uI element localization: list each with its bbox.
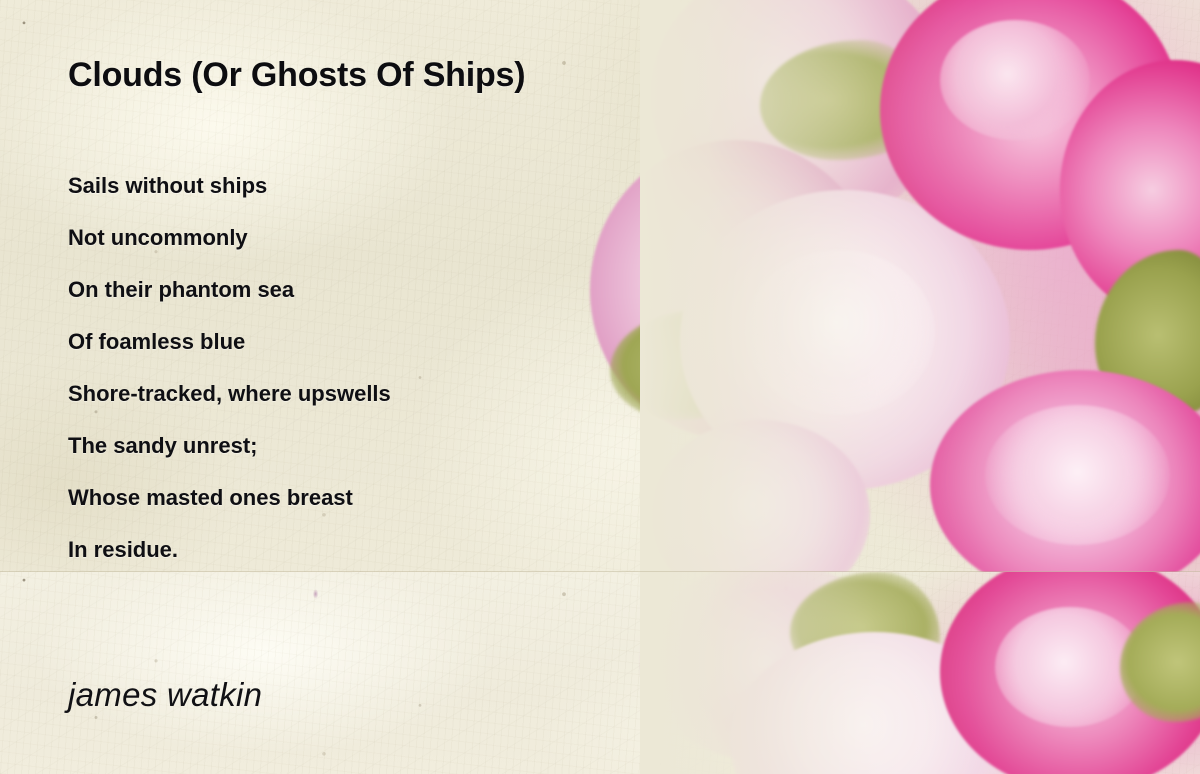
poem-line: The sandy unrest;: [68, 420, 391, 472]
poem-panel: Clouds (Or Ghosts Of Ships) Sails withou…: [0, 0, 1200, 572]
poem-line: Not uncommonly: [68, 212, 391, 264]
poem-text-stack: Clouds (Or Ghosts Of Ships) Sails withou…: [0, 0, 1200, 572]
poem-title: Clouds (Or Ghosts Of Ships): [68, 56, 525, 95]
poem-line: In residue.: [68, 524, 391, 572]
poem-line: Of foamless blue: [68, 316, 391, 368]
poem-line: Shore-tracked, where upswells: [68, 368, 391, 420]
author-name: james watkin: [68, 676, 262, 714]
parchment-background-lower: [0, 572, 1200, 774]
poem-body: Sails without ships Not uncommonly On th…: [68, 160, 391, 572]
poem-line: Sails without ships: [68, 160, 391, 212]
poem-line: Whose masted ones breast: [68, 472, 391, 524]
author-credit-panel: james watkin: [0, 572, 1200, 774]
poem-line: On their phantom sea: [68, 264, 391, 316]
poem-image-card: Clouds (Or Ghosts Of Ships) Sails withou…: [0, 0, 1200, 774]
